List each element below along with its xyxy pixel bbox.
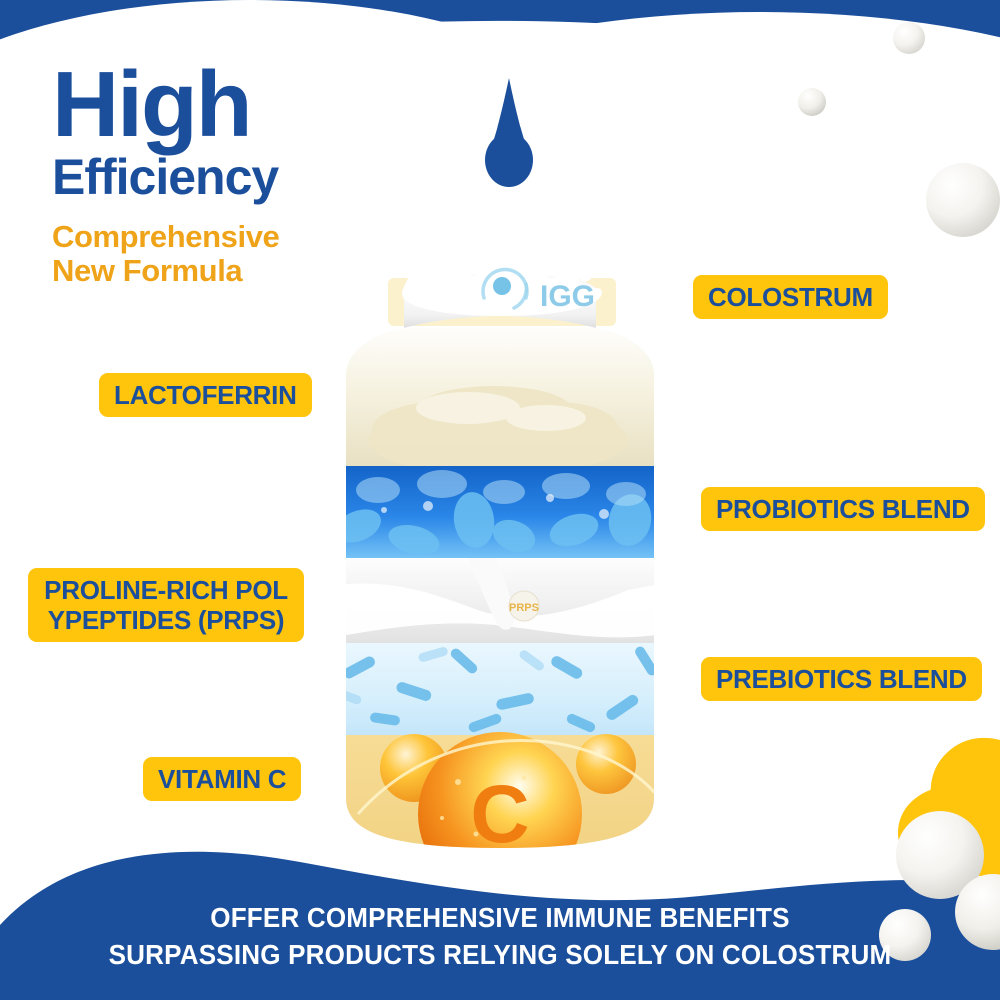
decor-sphere [798,88,826,116]
badge-probiotics-blend[interactable]: PROBIOTICS BLEND [701,487,985,531]
bottom-banner-text: OFFER COMPREHENSIVE IMMUNE BENEFITS SURP… [35,900,965,974]
banner-line-2: SURPASSING PRODUCTS RELYING SOLELY ON CO… [35,937,965,974]
prps-tablet-label: PRPS [509,602,539,614]
igg-label: IGG [540,280,595,313]
bottle-graphic: PRPS [318,258,682,858]
banner-line-1: OFFER COMPREHENSIVE IMMUNE BENEFITS [35,900,965,937]
tagline-line-1: Comprehensive [52,220,472,255]
badge-lactoferrin[interactable]: LACTOFERRIN [99,373,312,417]
vitamin-c-letter: C [470,769,529,858]
badge-prebiotics-blend[interactable]: PREBIOTICS BLEND [701,657,982,701]
poster-canvas: High Efficiency Comprehensive New Formul… [0,0,1000,1000]
headline-block: High Efficiency Comprehensive New Formul… [52,62,472,289]
headline-secondary: Efficiency [52,152,472,202]
product-bottle-image: PRPS [318,258,682,858]
headline-primary: High [52,62,472,148]
decor-sphere [926,163,1000,237]
decor-sphere [893,22,925,54]
badge-colostrum[interactable]: COLOSTRUM [693,275,888,319]
badge-vitamin-c[interactable]: VITAMIN C [143,757,301,801]
badge-proline-rich-polypeptides[interactable]: PROLINE-RICH POL YPEPTIDES (PRPS) [28,568,304,642]
